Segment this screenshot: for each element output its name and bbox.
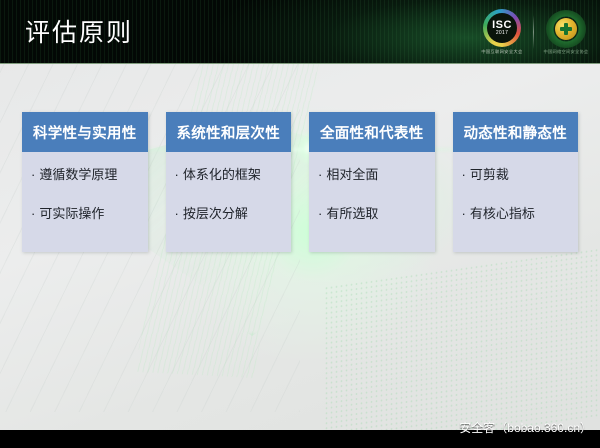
- list-item-label: 遵循数学原理: [39, 166, 117, 184]
- isc-ring-icon: ISC 2017: [483, 9, 521, 47]
- bullet-dot-icon: ·: [31, 166, 35, 184]
- list-item: · 可实际操作: [31, 205, 148, 223]
- presentation-slide: ISC 2017 中国互联网安全大会 中国网络空间安全协会 评估原则 科: [0, 0, 600, 448]
- list-item: · 体系化的框架: [175, 166, 292, 184]
- isc-logo-year: 2017: [496, 30, 508, 36]
- emblem-subtitle: 中国网络空间安全协会: [544, 48, 589, 55]
- card-title: 科学性与实用性: [22, 112, 148, 152]
- card-body: · 遵循数学原理 · 可实际操作: [22, 152, 148, 252]
- bullet-dot-icon: ·: [175, 166, 179, 184]
- card-title: 系统性和层次性: [166, 112, 292, 152]
- card-title: 动态性和静态性: [453, 112, 579, 152]
- list-item: · 相对全面: [318, 166, 435, 184]
- card-body: · 体系化的框架 · 按层次分解: [166, 152, 292, 252]
- bullet-dot-icon: ·: [175, 205, 179, 223]
- slide-header: ISC 2017 中国互联网安全大会 中国网络空间安全协会 评估原则: [0, 0, 600, 64]
- principle-card-row: 科学性与实用性 · 遵循数学原理 · 可实际操作 系统性和层次性 · 体系化的框…: [22, 112, 578, 252]
- association-emblem-logo: 中国网络空间安全协会: [540, 6, 592, 58]
- list-item: · 有核心指标: [462, 205, 579, 223]
- principle-card: 系统性和层次性 · 体系化的框架 · 按层次分解: [166, 112, 292, 252]
- bullet-dot-icon: ·: [462, 205, 466, 223]
- list-item-label: 有所选取: [326, 205, 378, 223]
- list-item-label: 可剪裁: [470, 166, 509, 184]
- list-item-label: 按层次分解: [183, 205, 248, 223]
- bullet-dot-icon: ·: [318, 205, 322, 223]
- list-item: · 按层次分解: [175, 205, 292, 223]
- emblem-disc-icon: [555, 18, 577, 40]
- bullet-dot-icon: ·: [462, 166, 466, 184]
- header-logo-group: ISC 2017 中国互联网安全大会 中国网络空间安全协会: [477, 4, 592, 60]
- isc-logo: ISC 2017 中国互联网安全大会: [477, 6, 527, 58]
- card-body: · 相对全面 · 有所选取: [309, 152, 435, 252]
- card-body: · 可剪裁 · 有核心指标: [453, 152, 579, 252]
- laurel-wreath-icon: [546, 10, 586, 48]
- list-item-label: 有核心指标: [470, 205, 535, 223]
- list-item: · 有所选取: [318, 205, 435, 223]
- principle-card: 动态性和静态性 · 可剪裁 · 有核心指标: [453, 112, 579, 252]
- list-item-label: 体系化的框架: [183, 166, 261, 184]
- card-title: 全面性和代表性: [309, 112, 435, 152]
- list-item: · 可剪裁: [462, 166, 579, 184]
- cross-icon: [560, 23, 572, 35]
- list-item-label: 可实际操作: [39, 205, 104, 223]
- isc-logo-text: ISC: [492, 20, 512, 30]
- page-title: 评估原则: [25, 18, 133, 48]
- principle-card: 全面性和代表性 · 相对全面 · 有所选取: [309, 112, 435, 252]
- bullet-dot-icon: ·: [31, 205, 35, 223]
- list-item-label: 相对全面: [326, 166, 378, 184]
- principle-card: 科学性与实用性 · 遵循数学原理 · 可实际操作: [22, 112, 148, 252]
- bullet-dot-icon: ·: [318, 166, 322, 184]
- watermark-text: 安全客（bobao.360.cn）: [459, 421, 592, 435]
- list-item: · 遵循数学原理: [31, 166, 148, 184]
- isc-logo-subtitle: 中国互联网安全大会: [481, 48, 522, 55]
- logo-divider: [533, 15, 534, 49]
